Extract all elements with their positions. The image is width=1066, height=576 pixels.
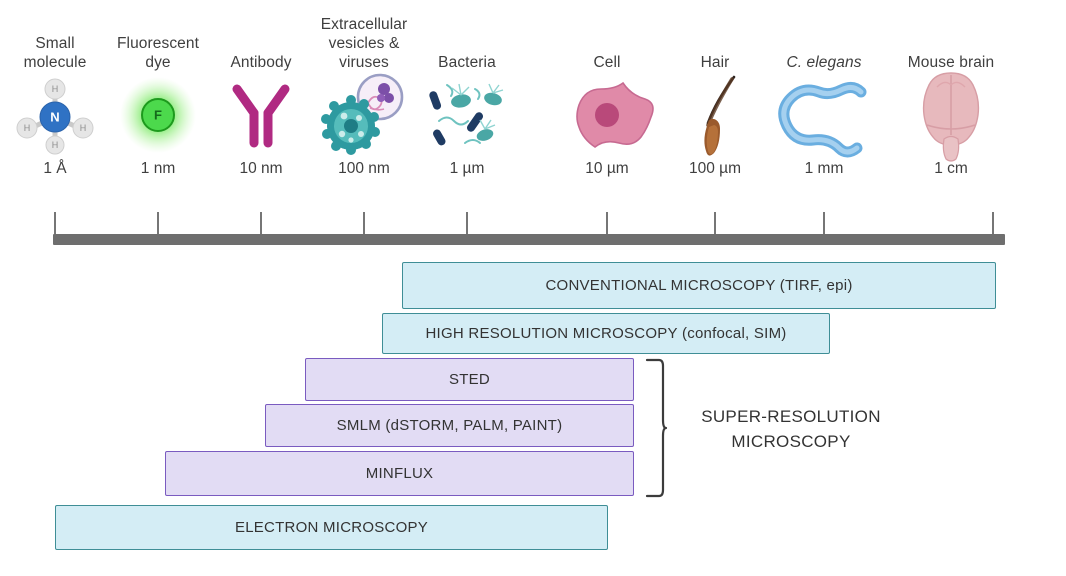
scale-item-label: Mouse brain [876, 53, 1026, 72]
scale-item-label-line: molecule [0, 53, 130, 72]
scale-item-small: Smallmolecule H H H H N 1 Å [0, 0, 130, 240]
bacteria-icon [392, 74, 542, 156]
super-resolution-label: SUPER-RESOLUTION MICROSCOPY [676, 404, 906, 454]
axis-tick [466, 212, 468, 236]
axis-tick [260, 212, 262, 236]
scale-item-bacteria: Bacteria [392, 0, 542, 240]
group-label-line1: SUPER-RESOLUTION [676, 404, 906, 429]
molecule-icon: H H H H N [0, 74, 130, 156]
scale-item-label-line: Cell [532, 53, 682, 72]
scale-unit-label: 1 cm [876, 160, 1026, 178]
scale-unit-label: 1 Å [0, 160, 130, 178]
technique-bar-smlm: SMLM (dSTORM, PALM, PAINT) [265, 404, 634, 447]
scale-unit-label: 1 mm [749, 160, 899, 178]
svg-text:N: N [50, 109, 59, 124]
scale-axis-bar [53, 234, 1005, 245]
technique-bar-minflux: MINFLUX [165, 451, 634, 496]
axis-tick [606, 212, 608, 236]
scale-item-label-line: Small [0, 34, 130, 53]
group-label-line2: MICROSCOPY [676, 429, 906, 454]
technique-bar-label: HIGH RESOLUTION MICROSCOPY (confocal, SI… [425, 325, 786, 342]
svg-text:H: H [52, 140, 59, 150]
scale-item-fluorescent: Fluorescentdye F 1 nm [83, 0, 233, 240]
scale-item-cell: Cell 10 µm [532, 0, 682, 240]
super-resolution-brace [645, 358, 667, 498]
technique-bar-sted: STED [305, 358, 634, 401]
svg-text:H: H [24, 123, 31, 133]
axis-tick [823, 212, 825, 236]
axis-tick [992, 212, 994, 236]
scale-unit-label: 1 µm [392, 160, 542, 178]
mouse-brain-icon [876, 74, 1026, 156]
technique-bar-label: MINFLUX [366, 465, 434, 482]
scale-item-label-line: C. elegans [749, 53, 899, 72]
scale-unit-label: 100 nm [289, 160, 439, 178]
axis-tick [157, 212, 159, 236]
technique-bar-label: ELECTRON MICROSCOPY [235, 519, 428, 536]
scale-item-label: C. elegans [749, 53, 899, 72]
technique-bar-label: SMLM (dSTORM, PALM, PAINT) [337, 417, 563, 434]
scale-item-label: Bacteria [392, 53, 542, 72]
svg-text:H: H [80, 123, 87, 133]
scale-unit-label: 10 µm [532, 160, 682, 178]
axis-tick [54, 212, 56, 236]
technique-bar-label: CONVENTIONAL MICROSCOPY (TIRF, epi) [545, 277, 852, 294]
scale-item-label-line: dye [83, 53, 233, 72]
virus-vesicle-icon [289, 74, 439, 156]
scale-item-extracellular: Extracellularvesicles &viruses [289, 0, 439, 240]
scale-item-mouse-brain: Mouse brain 1 cm [876, 0, 1026, 240]
technique-bar-electron: ELECTRON MICROSCOPY [55, 505, 608, 550]
scale-unit-label: 1 nm [83, 160, 233, 178]
scale-item-label-line: Hair [640, 53, 790, 72]
scale-item-c-elegans: C. elegans 1 mm [749, 0, 899, 240]
scale-item-label: Hair [640, 53, 790, 72]
scale-item-label: Extracellularvesicles &viruses [289, 15, 439, 72]
scale-item-label: Cell [532, 53, 682, 72]
scale-item-label-line: viruses [289, 53, 439, 72]
scale-item-label: Smallmolecule [0, 34, 130, 72]
scale-unit-label: 100 µm [640, 160, 790, 178]
scale-item-label-line: Fluorescent [83, 34, 233, 53]
hair-icon [640, 74, 790, 156]
axis-tick [363, 212, 365, 236]
fluorophore-icon: F [83, 74, 233, 156]
scale-item-label-line: vesicles & [289, 34, 439, 53]
scale-item-hair: Hair 100 µm [640, 0, 790, 240]
cell-icon [532, 74, 682, 156]
axis-tick [714, 212, 716, 236]
scale-item-label-line: Extracellular [289, 15, 439, 34]
scale-item-antibody: Antibody 10 nm [186, 0, 336, 240]
diagram-canvas: Smallmolecule H H H H N 1 ÅFluorescentdy… [0, 0, 1066, 576]
technique-bar-conventional: CONVENTIONAL MICROSCOPY (TIRF, epi) [402, 262, 996, 309]
technique-bar-high-resolution: HIGH RESOLUTION MICROSCOPY (confocal, SI… [382, 313, 830, 354]
scale-item-label-line: Mouse brain [876, 53, 1026, 72]
antibody-icon [186, 74, 336, 156]
scale-item-label-line: Antibody [186, 53, 336, 72]
scale-item-label: Fluorescentdye [83, 34, 233, 72]
svg-text:F: F [154, 107, 162, 122]
scale-item-label-line: Bacteria [392, 53, 542, 72]
scale-unit-label: 10 nm [186, 160, 336, 178]
scale-item-label: Antibody [186, 53, 336, 72]
technique-bar-label: STED [449, 371, 490, 388]
worm-icon [749, 74, 899, 156]
svg-text:H: H [52, 84, 59, 94]
